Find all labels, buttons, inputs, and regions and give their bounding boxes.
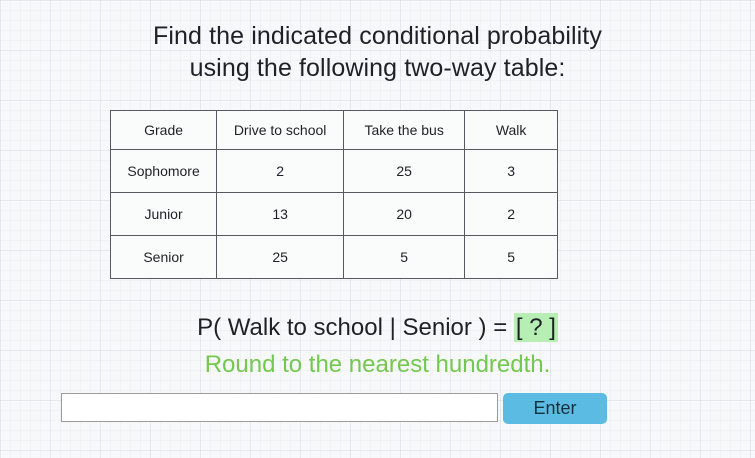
prompt-line-2: using the following two-way table: [0,52,755,84]
table-cell-sophomore-bus: 25 [344,150,465,193]
table-cell-sophomore-walk: 3 [465,150,558,193]
table-cell-sophomore-drive: 2 [217,150,344,193]
table-cell-junior-drive: 13 [217,193,344,236]
two-way-table: Grade Drive to school Take the bus Walk … [110,110,558,279]
table-cell-junior-bus: 20 [344,193,465,236]
table-cell-grade-junior: Junior [111,193,217,236]
worksheet-page: Find the indicated conditional probabili… [0,0,755,458]
table-cell-grade-sophomore: Sophomore [111,150,217,193]
table-row: Junior 13 20 2 [111,193,558,236]
table-row: Senior 25 5 5 [111,236,558,279]
prompt-line-1: Find the indicated conditional probabili… [153,22,602,50]
table-header-walk: Walk [465,111,558,150]
probability-expression-text: P( Walk to school | Senior ) = [197,314,514,341]
rounding-instruction: Round to the nearest hundredth. [0,350,755,380]
enter-button[interactable]: Enter [503,393,607,424]
probability-expression: P( Walk to school | Senior ) = [ ? ] [0,313,755,343]
table-header-row: Grade Drive to school Take the bus Walk [111,111,558,150]
answer-placeholder-badge: [ ? ] [514,313,558,342]
table-cell-junior-walk: 2 [465,193,558,236]
table-header-grade: Grade [111,111,217,150]
table-cell-senior-bus: 5 [344,236,465,279]
answer-row: Enter [61,393,607,424]
table-header-drive-to-school: Drive to school [217,111,344,150]
two-way-table-container: Grade Drive to school Take the bus Walk … [110,110,558,279]
page-title: Find the indicated conditional probabili… [0,20,755,84]
table-header-take-the-bus: Take the bus [344,111,465,150]
table-cell-grade-senior: Senior [111,236,217,279]
table-cell-senior-walk: 5 [465,236,558,279]
table-row: Sophomore 2 25 3 [111,150,558,193]
answer-input[interactable] [61,393,498,422]
table-cell-senior-drive: 25 [217,236,344,279]
